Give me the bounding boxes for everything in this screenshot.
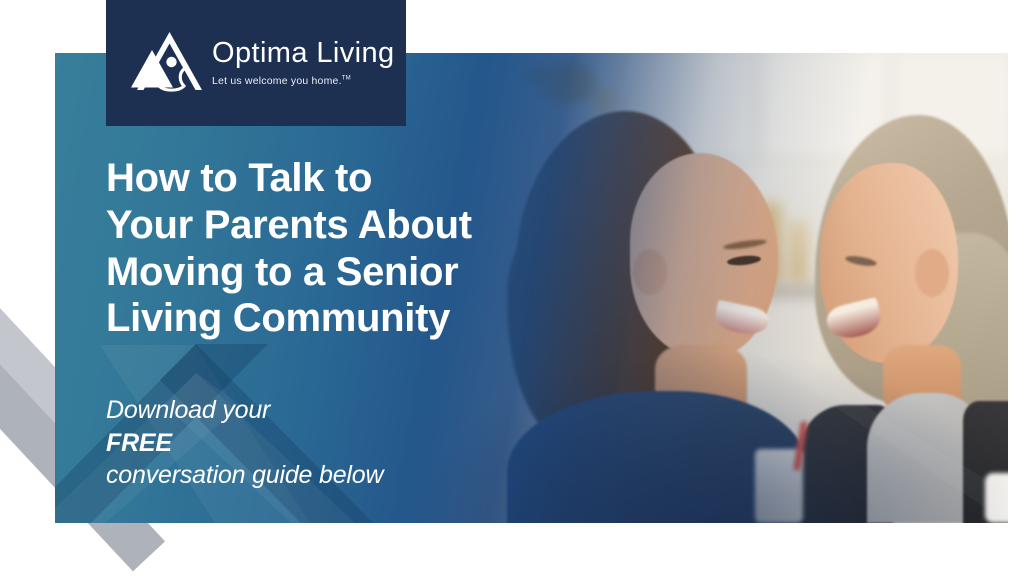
subtitle-line-2: conversation guide below	[106, 459, 526, 492]
brand-tagline: Let us welcome you home.TM	[212, 75, 395, 87]
brand-name: Optima Living	[212, 39, 395, 68]
page-title: How to Talk to Your Parents About Moving…	[106, 155, 526, 342]
headline-line: Living Community	[106, 295, 526, 342]
subtitle-line-1: Download your FREE	[106, 394, 526, 459]
hero-subtitle: Download your FREE conversation guide be…	[106, 394, 526, 492]
headline-line: Your Parents About	[106, 202, 526, 249]
brand-logo-box[interactable]: Optima Living Let us welcome you home.TM	[106, 0, 406, 126]
hero-copy-block: How to Talk to Your Parents About Moving…	[106, 155, 526, 492]
trademark-mark: TM	[342, 76, 351, 82]
mountain-peak-with-person-icon	[128, 30, 204, 96]
headline-line: Moving to a Senior	[106, 249, 526, 296]
hero-banner-slide: Optima Living Let us welcome you home.TM…	[0, 0, 1024, 576]
headline-line: How to Talk to	[106, 155, 526, 202]
subtitle-text-pre: Download your	[106, 394, 526, 427]
subtitle-emphasis-free: FREE	[106, 429, 172, 457]
brand-wordmark: Optima Living Let us welcome you home.TM	[212, 39, 395, 87]
tagline-text: Let us welcome you home.	[212, 75, 342, 87]
